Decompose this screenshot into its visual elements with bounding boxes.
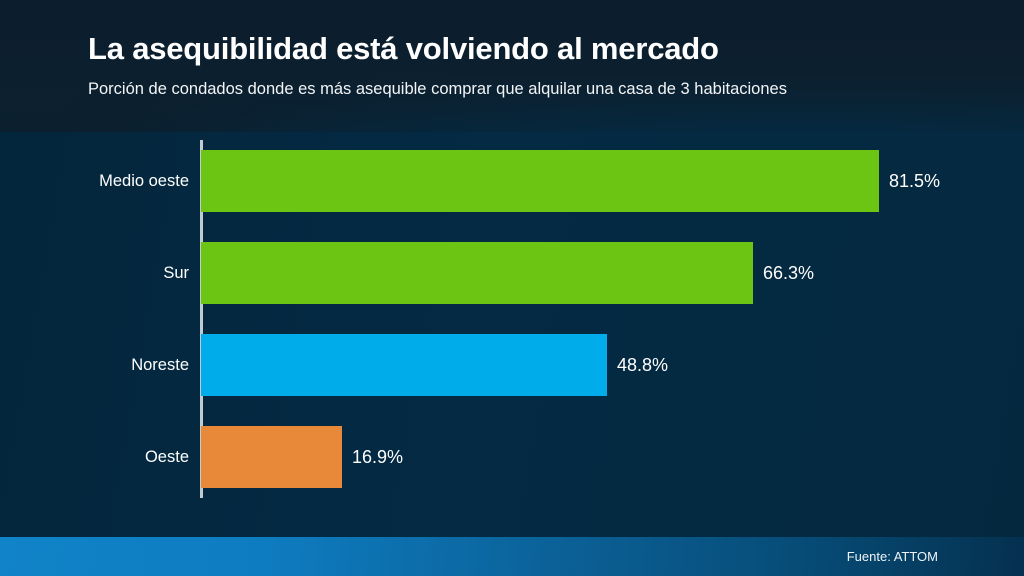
bar[interactable] xyxy=(201,242,753,304)
bar[interactable] xyxy=(201,334,607,396)
bar[interactable] xyxy=(201,426,342,488)
category-label: Noreste xyxy=(131,334,189,396)
bar-chart-plot: Medio oeste81.5%Sur66.3%Noreste48.8%Oest… xyxy=(0,0,1024,576)
chart-canvas: La asequibilidad está volviendo al merca… xyxy=(0,0,1024,576)
bar[interactable] xyxy=(201,150,879,212)
bar-value-label: 66.3% xyxy=(763,242,814,304)
bar-row: Noreste48.8% xyxy=(0,334,1024,396)
category-label: Medio oeste xyxy=(99,150,189,212)
category-label: Oeste xyxy=(145,426,189,488)
bar-value-label: 81.5% xyxy=(889,150,940,212)
category-label: Sur xyxy=(163,242,189,304)
bar-value-label: 48.8% xyxy=(617,334,668,396)
bar-row: Oeste16.9% xyxy=(0,426,1024,488)
footer-bar: Fuente: ATTOM xyxy=(0,537,1024,576)
bar-value-label: 16.9% xyxy=(352,426,403,488)
bar-row: Medio oeste81.5% xyxy=(0,150,1024,212)
source-attribution: Fuente: ATTOM xyxy=(847,537,938,576)
bar-row: Sur66.3% xyxy=(0,242,1024,304)
